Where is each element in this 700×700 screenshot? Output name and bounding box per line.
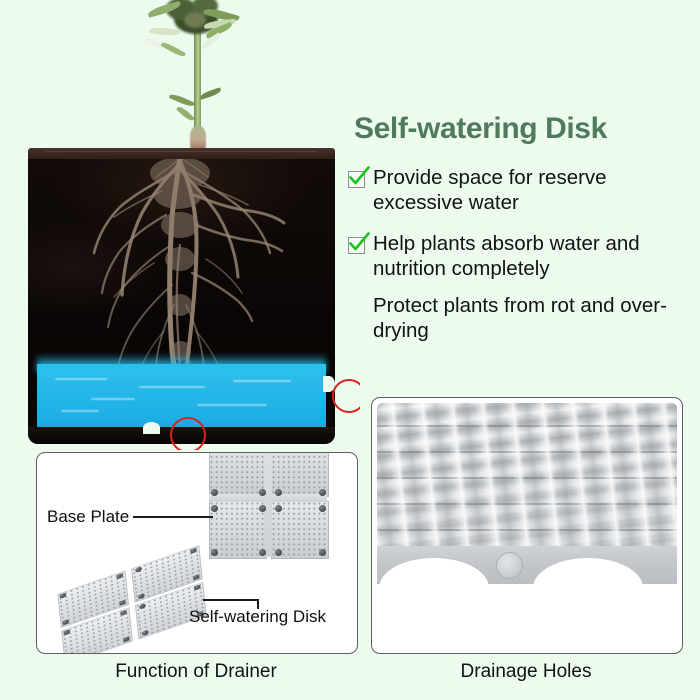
- planter-cutaway: [28, 148, 335, 444]
- page-title: Self-watering Disk: [354, 112, 696, 145]
- rattan-band: [377, 425, 677, 427]
- planter-base-rail: [377, 546, 677, 584]
- base-arch: [533, 558, 643, 588]
- water-ripple: [139, 386, 205, 388]
- base-plate-leader-line: [133, 516, 213, 518]
- rattan-band: [377, 503, 677, 505]
- drainage-holes-caption: Drainage Holes: [371, 662, 681, 683]
- feature-list-block: Self-watering Disk Provide space for res…: [348, 112, 696, 343]
- drain-notch-bottom-highlight: [170, 417, 206, 450]
- drainer-stud: [211, 549, 218, 556]
- plant-illustration: [118, 0, 288, 156]
- drainer-stud: [259, 549, 266, 556]
- feature-item-1-label: Provide space for reserve excessive wate…: [373, 165, 696, 215]
- drain-plug: [496, 552, 523, 579]
- rattan-band: [377, 477, 677, 479]
- drainer-stud: [319, 505, 326, 512]
- drainer-stud: [319, 489, 326, 496]
- water-ripple: [197, 404, 267, 406]
- water-ripple: [55, 378, 107, 380]
- drainage-holes-panel: [371, 397, 683, 654]
- drain-notch-side-highlight: [332, 379, 360, 413]
- plant-leaf: [176, 105, 195, 123]
- function-of-drainer-caption: Function of Drainer: [36, 662, 356, 683]
- self-watering-disk-leader-line: [203, 599, 259, 601]
- drainer-stud: [275, 505, 282, 512]
- infographic-canvas: Self-watering Disk Provide space for res…: [0, 0, 700, 700]
- rattan-band: [377, 529, 677, 531]
- rattan-weave-texture: [377, 403, 677, 551]
- drainer-stud: [211, 489, 218, 496]
- drainer-stud: [319, 549, 326, 556]
- checkbox-checked-icon: [348, 171, 365, 188]
- feature-item-1: Provide space for reserve excessive wate…: [348, 165, 696, 215]
- feature-item-2-label: Help plants absorb water and nutrition c…: [373, 231, 696, 281]
- feature-item-2: Help plants absorb water and nutrition c…: [348, 231, 696, 281]
- feature-item-3-label: Protect plants from rot and over-drying: [373, 293, 696, 343]
- base-arch: [379, 558, 489, 588]
- pot-cross-section-photo: [0, 0, 360, 450]
- plant-leaf: [169, 92, 195, 108]
- checkbox-checked-icon: [348, 237, 365, 254]
- drainer-stud: [275, 549, 282, 556]
- water-ripple: [61, 410, 99, 412]
- plant-leaf: [199, 87, 222, 100]
- drainer-stud: [275, 489, 282, 496]
- foliage-blob: [184, 12, 206, 28]
- function-of-drainer-panel: Base Plate Self-watering Disk: [36, 452, 358, 654]
- drainer-stud: [259, 489, 266, 496]
- plant-leaf: [150, 26, 181, 37]
- drainer-stud: [211, 505, 218, 512]
- water-ripple: [91, 398, 135, 400]
- drainer-isometric-view: [57, 545, 206, 654]
- base-plate-label: Base Plate: [47, 507, 129, 527]
- drain-notch-bottom: [143, 422, 160, 434]
- planter-interior: [28, 159, 335, 444]
- rattan-band: [377, 451, 677, 453]
- water-ripple: [233, 380, 291, 382]
- drainer-stud: [259, 505, 266, 512]
- drainer-top-view: [209, 452, 331, 563]
- self-watering-disk-label: Self-watering Disk: [189, 607, 326, 627]
- drainer-rib: [264, 452, 272, 557]
